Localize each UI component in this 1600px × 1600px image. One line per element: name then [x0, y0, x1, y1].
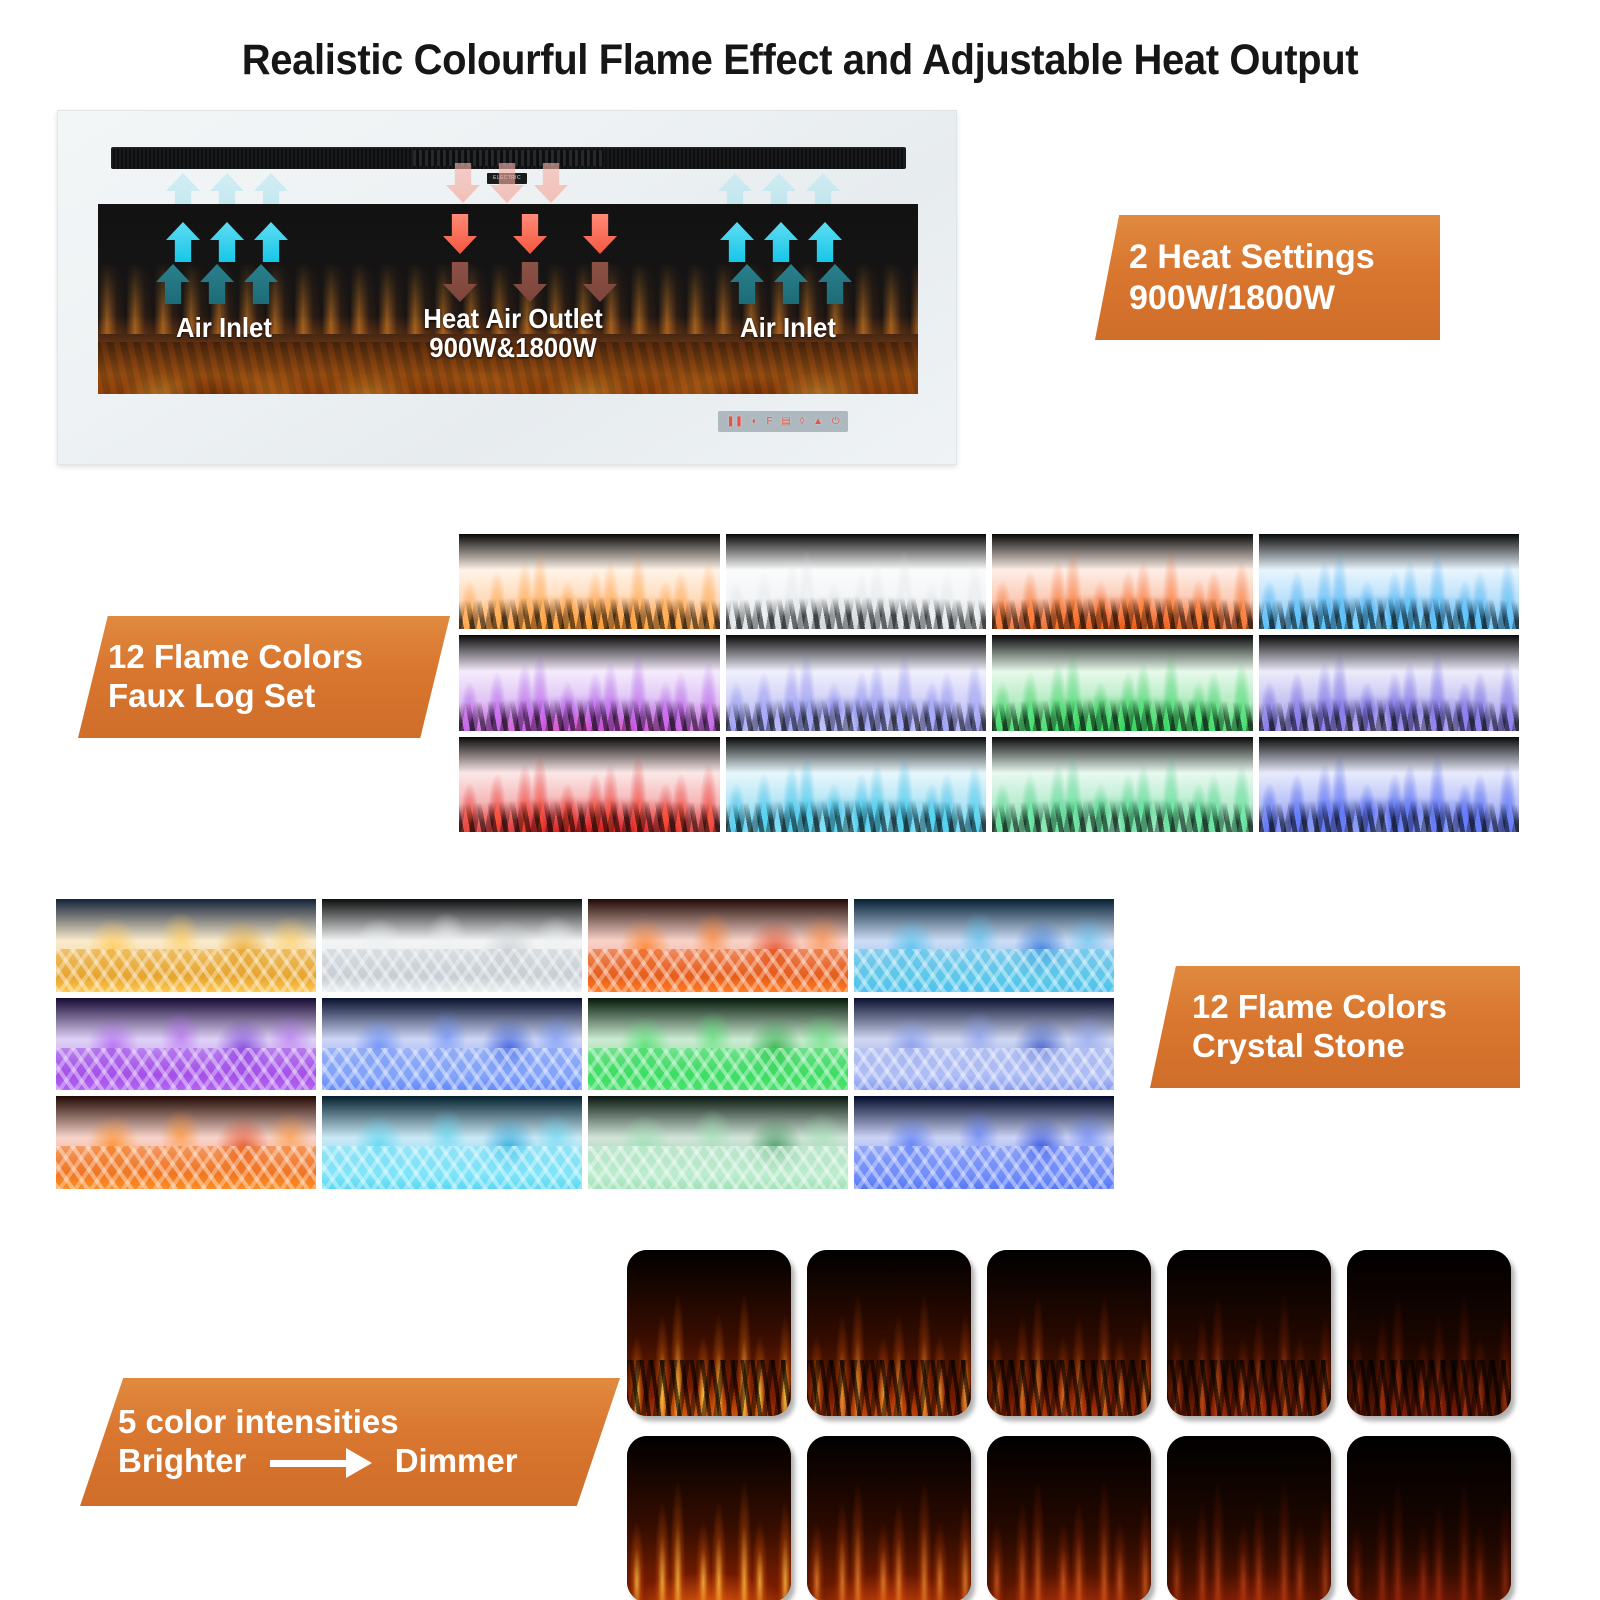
crystal-chunks	[322, 949, 582, 992]
heat-outlet-label: Heat Air Outlet 900W&1800W	[398, 304, 628, 363]
ember-bed	[807, 1360, 971, 1416]
crystal-color-cell-purple	[55, 997, 317, 1092]
crystal-chunks	[854, 1146, 1114, 1189]
arrow-up-icon	[808, 222, 842, 262]
crystal-color-cell-blue	[321, 997, 583, 1092]
faux-log-flame-color-grid	[458, 533, 1520, 833]
crystal-color-cell-blue-violet	[853, 997, 1115, 1092]
crystal-chunks	[854, 949, 1114, 992]
log-ridge	[726, 691, 987, 731]
page-title: Realistic Colourful Flame Effect and Adj…	[56, 36, 1544, 85]
arrow-up-icon	[254, 222, 288, 262]
log-ridge	[992, 792, 1253, 832]
flame-color-cell-teal-cyan	[725, 736, 988, 833]
banner-log-line2: Faux Log Set	[108, 677, 450, 716]
air-inlet-arrows-right-dark	[730, 264, 852, 304]
crystal-chunks	[588, 1146, 848, 1189]
log-ridge	[726, 792, 987, 832]
log-ridge	[459, 589, 720, 629]
heat-outlet-arrows-dark	[443, 262, 617, 302]
flame-color-cell-deep-orange	[991, 533, 1254, 630]
heat-outlet-arrows-bright	[443, 214, 617, 254]
intensity-tile-level-10	[1347, 1436, 1511, 1600]
arrow-up-icon	[210, 222, 244, 262]
brighter-label: Brighter	[118, 1442, 246, 1479]
flame-render	[1167, 1436, 1331, 1600]
crystal-color-cell-pale-green	[587, 1095, 849, 1190]
log-ridge	[1259, 589, 1520, 629]
arrow-up-icon	[774, 264, 808, 304]
dimmer-label: Dimmer	[395, 1442, 518, 1479]
flame-color-cell-orange	[458, 533, 721, 630]
intensity-tile-level-3	[987, 1250, 1151, 1416]
thermometer-icon[interactable]: ▲	[813, 417, 823, 427]
banner-heat-settings: 2 Heat Settings 900W/1800W	[1095, 215, 1440, 340]
banner-crystal-line1: 12 Flame Colors	[1192, 988, 1520, 1027]
arrow-down-icon	[534, 163, 568, 203]
banner-color-intensities: 5 color intensities Brighter Dimmer	[80, 1378, 620, 1506]
crystal-color-cell-cyan	[321, 1095, 583, 1190]
crystal-stone-flame-color-grid	[55, 898, 1115, 1190]
air-inlet-label-right: Air Inlet	[705, 312, 871, 344]
infographic-page: Realistic Colourful Flame Effect and Adj…	[0, 0, 1600, 1600]
arrow-down-icon	[443, 214, 477, 254]
banner-dimmer-line1: 5 color intensities	[118, 1403, 620, 1442]
crystal-chunks	[56, 1048, 316, 1091]
log-ridge	[726, 589, 987, 629]
crystal-color-cell-red-orange	[587, 898, 849, 993]
pause-icon[interactable]: ❚❚	[726, 417, 743, 427]
crystal-chunks	[854, 1048, 1114, 1091]
flame-color-cell-cyan-blue	[1258, 533, 1521, 630]
arrow-down-icon	[583, 262, 617, 302]
arrow-head	[346, 1448, 372, 1478]
crystal-color-cell-blue-teal	[853, 898, 1115, 993]
log-ridge	[1259, 792, 1520, 832]
arrow-up-icon	[818, 264, 852, 304]
air-inlet-arrows-left-bright	[166, 222, 288, 262]
log-ridge	[992, 589, 1253, 629]
banner-heat-line2: 900W/1800W	[1129, 278, 1440, 318]
log-ridge	[992, 691, 1253, 731]
standby-icon[interactable]: ⏻	[832, 417, 840, 427]
intensity-tile-level-7	[807, 1436, 971, 1600]
intensity-tile-level-4	[1167, 1250, 1331, 1416]
crystal-chunks	[588, 1048, 848, 1091]
crystal-chunks	[322, 1048, 582, 1091]
banner-dimmer-line2: Brighter Dimmer	[118, 1442, 620, 1481]
ember-bed	[1347, 1360, 1511, 1416]
log-ridge	[459, 691, 720, 731]
intensity-tile-level-8	[987, 1436, 1151, 1600]
banner-log-line1: 12 Flame Colors	[108, 638, 450, 677]
flame-render	[1347, 1436, 1511, 1600]
banner-crystal-line2: Crystal Stone	[1192, 1027, 1520, 1066]
log-ridge	[1259, 691, 1520, 731]
arrow-down-icon	[583, 214, 617, 254]
ember-bed	[627, 1360, 791, 1416]
arrow-shaft	[270, 1460, 346, 1467]
crystal-color-cell-orange-red	[55, 1095, 317, 1190]
flame-color-cell-periwinkle	[725, 634, 988, 731]
arrow-up-icon	[200, 264, 234, 304]
arrow-down-icon	[443, 262, 477, 302]
crystal-color-cell-deep-blue	[853, 1095, 1115, 1190]
heat-outlet-label-line1: Heat Air Outlet	[398, 304, 628, 333]
banner-faux-log-set: 12 Flame Colors Faux Log Set	[78, 616, 450, 738]
crystal-chunks	[56, 1146, 316, 1189]
flame-color-cell-green	[991, 634, 1254, 731]
intensity-tile-level-5-dimmest	[1347, 1250, 1511, 1416]
arrow-down-icon	[446, 163, 480, 203]
air-inlet-arrows-left-dark	[156, 264, 278, 304]
flame-color-cell-royal-blue	[1258, 736, 1521, 833]
arrow-up-icon	[166, 222, 200, 262]
arrow-up-icon	[244, 264, 278, 304]
banner-crystal-stone: 12 Flame Colors Crystal Stone	[1150, 966, 1520, 1088]
arrow-down-icon	[513, 214, 547, 254]
fahrenheit-icon[interactable]: F	[767, 417, 773, 427]
air-inlet-arrows-right-bright	[720, 222, 842, 262]
intensity-tile-level-1-brightest	[627, 1250, 791, 1416]
crystal-chunks	[322, 1146, 582, 1189]
intensity-tile-level-6	[627, 1436, 791, 1600]
crystal-chunks	[56, 949, 316, 992]
crystal-chunks	[588, 949, 848, 992]
flame-render	[627, 1436, 791, 1600]
flame-color-cell-red	[458, 736, 721, 833]
flame-color-cell-mint-green	[991, 736, 1254, 833]
timer-icon[interactable]: ▤	[781, 417, 790, 427]
power-icon[interactable]: ◐	[752, 417, 758, 427]
intensity-tile-level-9	[1167, 1436, 1331, 1600]
flame-color-cell-violet-blue	[1258, 634, 1521, 731]
air-inlet-label-left: Air Inlet	[141, 312, 307, 344]
arrow-up-icon	[764, 222, 798, 262]
flame-render	[987, 1436, 1151, 1600]
arrow-up-icon	[156, 264, 190, 304]
flame-render	[807, 1436, 971, 1600]
intensity-tile-level-2	[807, 1250, 971, 1416]
heat-outlet-arrows-faded	[446, 163, 568, 203]
ember-bed	[1167, 1360, 1331, 1416]
arrow-down-icon	[513, 262, 547, 302]
fireplace-flame-screen: Air Inlet Heat Air Outlet 900W&1800W Air…	[98, 204, 918, 394]
log-ridge	[459, 792, 720, 832]
flame-icon[interactable]: ◊	[799, 417, 804, 427]
banner-heat-line1: 2 Heat Settings	[1129, 237, 1440, 277]
flame-color-cell-purple-magenta	[458, 634, 721, 731]
arrow-up-icon	[720, 222, 754, 262]
flame-color-cell-white	[725, 533, 988, 630]
arrow-up-icon	[730, 264, 764, 304]
crystal-color-cell-green	[587, 997, 849, 1092]
fireplace-unit-diagram: ELECTRIC FIRE	[57, 110, 957, 465]
crystal-color-cell-white-silver	[321, 898, 583, 993]
right-arrow-icon	[270, 1448, 372, 1478]
crystal-color-cell-amber	[55, 898, 317, 993]
touch-control-panel[interactable]: ❚❚ ◐ F ▤ ◊ ▲ ⏻	[718, 411, 848, 432]
heat-outlet-label-line2: 900W&1800W	[398, 333, 628, 362]
arrow-down-icon	[490, 163, 524, 203]
ember-bed	[987, 1360, 1151, 1416]
